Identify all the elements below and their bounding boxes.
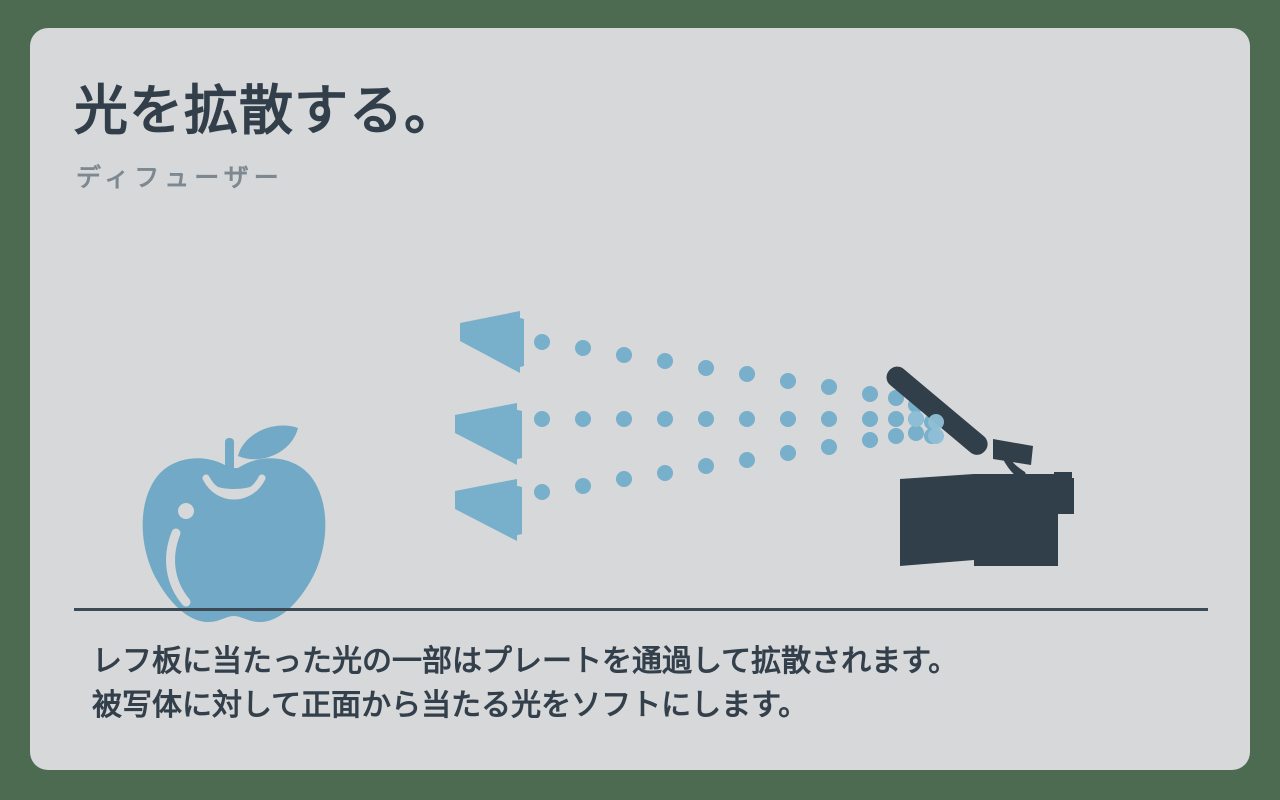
dotted-light-rays-icon: [455, 311, 940, 541]
caption-line-1: レフ板に当たった光の一部はプレートを通過して拡散されます。: [92, 640, 1202, 684]
page-title: 光を拡散する。: [74, 80, 459, 142]
diffuser-plate-icon: [882, 362, 991, 458]
camera-body-icon: [900, 472, 1074, 566]
apple-icon: [143, 426, 326, 622]
caption-line-2: 被写体に対して正面から当たる光をソフトにします。: [92, 684, 1202, 728]
screenshot-root: 光を拡散する。 ディフューザー: [0, 0, 1280, 800]
flash-bracket-icon: [993, 439, 1033, 485]
camera-with-diffuser-icon: [882, 362, 1074, 566]
ray-upper: [460, 311, 904, 406]
info-card: 光を拡散する。 ディフューザー: [30, 28, 1250, 770]
section-divider: [74, 608, 1208, 611]
page-subtitle: ディフューザー: [76, 158, 284, 194]
ray-middle: [455, 403, 904, 465]
ray-convergence-cluster: [908, 397, 940, 444]
plate-transmitted-dots: [908, 411, 944, 444]
ray-lower: [455, 428, 904, 541]
caption-text: レフ板に当たった光の一部はプレートを通過して拡散されます。 被写体に対して正面か…: [92, 640, 1202, 729]
